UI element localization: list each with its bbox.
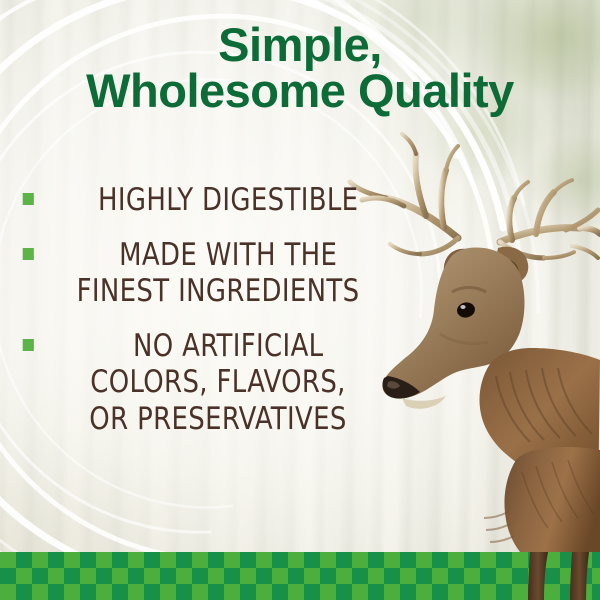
list-item: NO ARTIFICIAL COLORS, FLAVORS, OR PRESER… [8, 328, 428, 438]
green-square-bullet-icon [23, 248, 34, 260]
list-item: HIGHLY DIGESTIBLE [8, 182, 428, 219]
bullet-line: HIGHLY DIGESTIBLE [23, 182, 414, 219]
headline: Simple, Wholesome Quality [0, 22, 600, 114]
green-square-bullet-icon [23, 339, 34, 351]
bullet-text: COLORS, FLAVORS, [23, 364, 414, 401]
bullet-line: NO ARTIFICIAL [23, 328, 414, 365]
headline-line-2: Wholesome Quality [0, 68, 600, 114]
checkerboard-footer-border [0, 552, 600, 600]
product-feature-banner: Simple, Wholesome Quality HIGHLY DIGESTI… [0, 0, 600, 600]
bullet-line: MADE WITH THE [23, 237, 414, 274]
headline-line-1: Simple, [0, 22, 600, 68]
bullet-text: NO ARTIFICIAL [133, 328, 324, 364]
bullet-text: OR PRESERVATIVES [23, 401, 414, 438]
bullet-text: FINEST INGREDIENTS [23, 273, 414, 310]
feature-bullet-list: HIGHLY DIGESTIBLE MADE WITH THE FINEST I… [8, 182, 428, 455]
bullet-text: HIGHLY DIGESTIBLE [98, 182, 358, 218]
bullet-text: MADE WITH THE [119, 237, 337, 273]
list-item: MADE WITH THE FINEST INGREDIENTS [8, 237, 428, 310]
green-square-bullet-icon [23, 193, 34, 205]
